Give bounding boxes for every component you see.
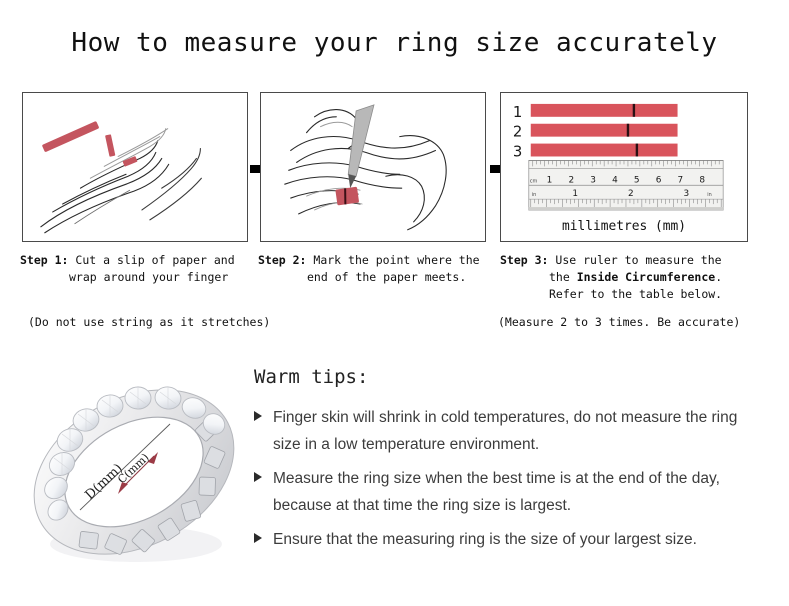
svg-text:in: in bbox=[532, 192, 537, 198]
svg-text:7: 7 bbox=[678, 175, 684, 185]
step-1-note: (Do not use string as it stretches) bbox=[28, 314, 270, 330]
svg-text:2: 2 bbox=[568, 175, 574, 185]
svg-text:8: 8 bbox=[699, 175, 705, 185]
warm-tips-block: Warm tips: Finger skin will shrink in co… bbox=[254, 366, 774, 560]
step-3-line2-suffix: . bbox=[715, 270, 722, 284]
tip-item: Ensure that the measuring ring is the si… bbox=[254, 526, 774, 553]
svg-text:3: 3 bbox=[590, 175, 596, 185]
hand-with-pen-marking-illustration bbox=[261, 93, 485, 242]
step-1-line2: wrap around your finger bbox=[20, 269, 256, 286]
svg-text:6: 6 bbox=[656, 175, 662, 185]
triangle-bullet-icon bbox=[254, 533, 262, 543]
svg-text:3: 3 bbox=[684, 189, 690, 199]
step-panel-3: 1 2 3 cm 1 2 3 bbox=[500, 92, 748, 242]
tip-text-3: Ensure that the measuring ring is the si… bbox=[273, 526, 697, 553]
step-2-line2: end of the paper meets. bbox=[258, 269, 498, 286]
steps-row: 1 2 3 cm 1 2 3 bbox=[22, 92, 748, 242]
page-title: How to measure your ring size accurately bbox=[0, 28, 789, 58]
triangle-bullet-icon bbox=[254, 472, 262, 482]
step-2-label: Step 2: bbox=[258, 253, 306, 267]
ruler-unit-caption: millimetres (mm) bbox=[562, 219, 686, 234]
tip-text-2: Measure the ring size when the best time… bbox=[273, 465, 743, 519]
hand-with-paper-strip-illustration bbox=[23, 93, 247, 242]
step-3-inside-circumference: Inside Circumference bbox=[577, 270, 715, 284]
step-3-line2: the Inside Circumference. bbox=[500, 269, 768, 286]
svg-text:1: 1 bbox=[572, 189, 578, 199]
tip-item: Measure the ring size when the best time… bbox=[254, 465, 774, 519]
strips-over-ruler-illustration: 1 2 3 cm 1 2 3 bbox=[501, 93, 747, 242]
tip-text-1: Finger skin will shrink in cold temperat… bbox=[273, 404, 743, 458]
step-2-caption: Step 2: Mark the point where the end of … bbox=[258, 252, 498, 286]
svg-text:1: 1 bbox=[547, 175, 553, 185]
strip-number-3: 3 bbox=[513, 142, 522, 160]
svg-text:2: 2 bbox=[628, 189, 634, 199]
triangle-bullet-icon bbox=[254, 411, 262, 421]
svg-text:cm: cm bbox=[530, 178, 538, 184]
tip-item: Finger skin will shrink in cold temperat… bbox=[254, 404, 774, 458]
step-3-caption: Step 3: Use ruler to measure the the Ins… bbox=[500, 252, 768, 303]
step-1-caption: Step 1: Cut a slip of paper and wrap aro… bbox=[20, 252, 256, 286]
svg-text:in: in bbox=[707, 192, 712, 198]
step-3-line1: Use ruler to measure the bbox=[555, 253, 721, 267]
step-1-line1: Cut a slip of paper and bbox=[75, 253, 234, 267]
warm-tips-heading: Warm tips: bbox=[254, 366, 774, 388]
step-1-label: Step 1: bbox=[20, 253, 68, 267]
ring-diagram: D(mm) C(mm) bbox=[18, 352, 250, 588]
step-panel-1 bbox=[22, 92, 248, 242]
step-3-label: Step 3: bbox=[500, 253, 548, 267]
svg-text:5: 5 bbox=[634, 175, 640, 185]
step-2-line1: Mark the point where the bbox=[313, 253, 479, 267]
step-3-line2-prefix: the bbox=[549, 270, 577, 284]
strip-number-2: 2 bbox=[513, 123, 522, 141]
step-3-note: (Measure 2 to 3 times. Be accurate) bbox=[498, 314, 740, 330]
step-panel-2 bbox=[260, 92, 486, 242]
step-3-line3: Refer to the table below. bbox=[500, 286, 768, 303]
svg-text:4: 4 bbox=[612, 175, 618, 185]
strip-number-1: 1 bbox=[513, 103, 522, 121]
